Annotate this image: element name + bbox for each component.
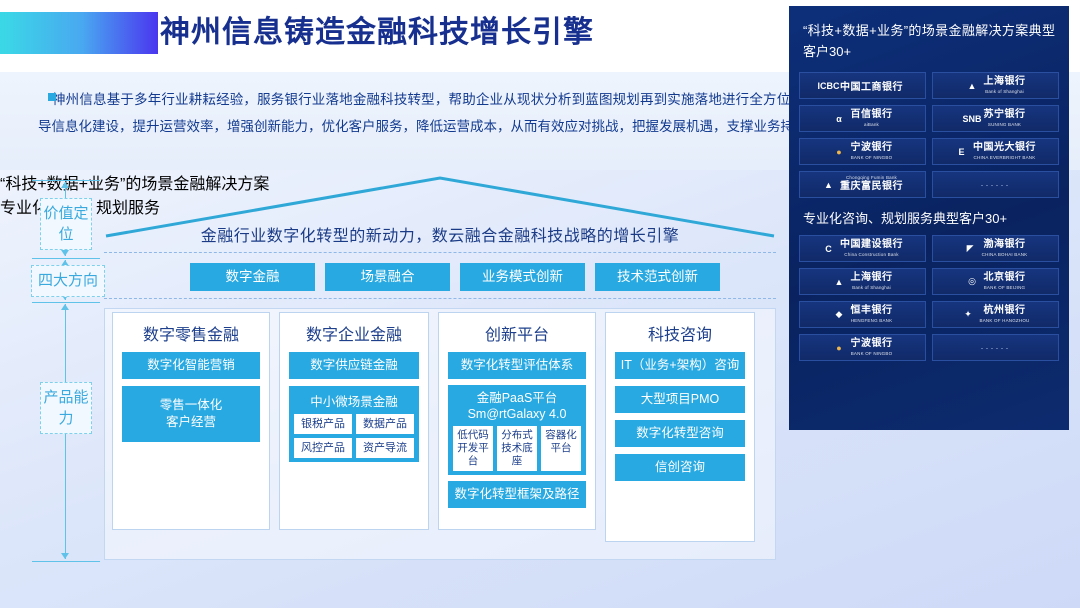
logo-label: 北京银行 bbox=[984, 272, 1026, 285]
page-title: 神州信息铸造金融科技增长引擎 bbox=[160, 12, 594, 54]
logo-label: 渤海银行 bbox=[984, 239, 1026, 252]
customer-logo-suning-bank[interactable]: SNB 苏宁银行 SUNING BANK bbox=[932, 105, 1059, 132]
bank-of-ningbo-icon: ● bbox=[833, 341, 846, 354]
paas-cell-row: 低代码开发平台 分布式技术底座 容器化平台 bbox=[453, 426, 581, 471]
capability-chip-framework[interactable]: 数字化转型框架及路径 bbox=[448, 481, 586, 508]
logo-label: 上海银行 bbox=[851, 272, 893, 285]
customer-logo-bohai-bank[interactable]: ◤ 渤海银行 CHINA BOHAI BANK bbox=[932, 235, 1059, 262]
everbright-bank-icon: E bbox=[955, 145, 968, 158]
logo-label: 苏宁银行 bbox=[984, 109, 1026, 122]
logo-label: 百信银行 bbox=[851, 109, 893, 122]
bank-of-beijing-icon: ◎ bbox=[966, 275, 979, 288]
customer-logo-chongqing-fumin-bank[interactable]: ▲ Chongqing Fumin Bank 重庆富民银行 bbox=[799, 171, 926, 198]
axis-divider bbox=[32, 302, 100, 303]
logo-label-en: Bank of Shanghai bbox=[985, 89, 1024, 95]
logo-label-en: CHINA EVERBRIGHT BANK bbox=[974, 155, 1036, 161]
arrow-down-icon bbox=[61, 553, 69, 559]
bank-of-hangzhou-icon: ✦ bbox=[962, 308, 975, 321]
customer-logo-bank-of-beijing[interactable]: ◎ 北京银行 BANK OF BEIJING bbox=[932, 268, 1059, 295]
capability-chip[interactable]: 大型项目PMO bbox=[615, 386, 745, 413]
customer-panel: “科技+数据+业务”的场景金融解决方案典型客户30+ ICBC 中国工商银行 ▲… bbox=[789, 6, 1069, 430]
capability-column-platform: 创新平台 数字化转型评估体系 金融PaaS平台 Sm@rtGalaxy 4.0 … bbox=[438, 312, 596, 530]
capability-chip[interactable]: 信创咨询 bbox=[615, 454, 745, 481]
suning-bank-icon: SNB bbox=[966, 112, 979, 125]
column-title: 创新平台 bbox=[448, 321, 586, 345]
sub-chip[interactable]: 数据产品 bbox=[356, 414, 414, 434]
direction-chip-row: 数字金融 场景融合 业务模式创新 技术范式创新 bbox=[190, 263, 720, 291]
capability-chip[interactable]: 数字化智能营销 bbox=[122, 352, 260, 379]
customer-logo-everbright-bank[interactable]: E 中国光大银行 CHINA EVERBRIGHT BANK bbox=[932, 138, 1059, 165]
paas-cell[interactable]: 分布式技术底座 bbox=[497, 426, 537, 471]
divider-dashed bbox=[104, 298, 776, 299]
customer-logo-grid-1: ICBC 中国工商银行 ▲ 上海银行 Bank of Shanghai α 百信… bbox=[789, 72, 1069, 198]
customer-logo-hengfeng-bank[interactable]: ◆ 恒丰银行 HENGFENG BANK bbox=[799, 301, 926, 328]
bullet-icon bbox=[48, 93, 56, 101]
logo-label-en: Chongqing Fumin Bank bbox=[846, 175, 897, 181]
customer-logo-bank-of-ningbo[interactable]: ● 宁波银行 BANK OF NINGBO bbox=[799, 138, 926, 165]
sub-chip[interactable]: 资产导流 bbox=[356, 438, 414, 458]
bank-of-ningbo-icon: ● bbox=[833, 145, 846, 158]
ellipsis-label: ······ bbox=[981, 180, 1011, 190]
direction-chip-2[interactable]: 场景融合 bbox=[325, 263, 450, 291]
logo-label-en: SUNING BANK bbox=[988, 122, 1021, 128]
bank-of-shanghai-icon: ▲ bbox=[966, 79, 979, 92]
capability-chip[interactable]: 零售一体化客户经营 bbox=[122, 386, 260, 442]
axis-divider bbox=[32, 561, 100, 562]
capability-chip[interactable]: IT（业务+架构）咨询 bbox=[615, 352, 745, 379]
logo-label-en: BANK OF HANGZHOU bbox=[980, 318, 1030, 324]
logo-label: 中国建设银行 bbox=[840, 239, 903, 252]
capability-columns: 数字零售金融 数字化智能营销 零售一体化客户经营 数字企业金融 数字供应链金融 … bbox=[112, 312, 768, 542]
logo-label: 宁波银行 bbox=[851, 142, 893, 155]
logo-label-en: CHINA BOHAI BANK bbox=[982, 252, 1028, 258]
capability-column-retail: 数字零售金融 数字化智能营销 零售一体化客户经营 bbox=[112, 312, 270, 530]
ccb-icon: C bbox=[822, 242, 835, 255]
logo-label: 恒丰银行 bbox=[851, 305, 893, 318]
bank-of-shanghai-icon: ▲ bbox=[833, 275, 846, 288]
customer-section-1-title: “科技+数据+业务”的场景金融解决方案典型客户30+ bbox=[789, 6, 1069, 72]
logo-label-en: Bank of Shanghai bbox=[852, 285, 891, 291]
capability-chip[interactable]: 数字化转型评估体系 bbox=[448, 352, 586, 379]
paas-cell[interactable]: 低代码开发平台 bbox=[453, 426, 493, 471]
direction-chip-1[interactable]: 数字金融 bbox=[190, 263, 315, 291]
customer-logo-bank-of-shanghai[interactable]: ▲ 上海银行 Bank of Shanghai bbox=[932, 72, 1059, 99]
customer-logo-icbc[interactable]: ICBC 中国工商银行 bbox=[799, 72, 926, 99]
axis-label-product-capability: 产品能力 bbox=[40, 382, 92, 434]
direction-chip-3[interactable]: 业务模式创新 bbox=[460, 263, 585, 291]
group-title: 中小微场景金融 bbox=[294, 391, 414, 410]
axis-label-four-directions: 四大方向 bbox=[31, 265, 105, 297]
axis-divider bbox=[32, 180, 100, 181]
capability-chip[interactable]: 数字供应链金融 bbox=[289, 352, 419, 379]
logo-label-en: aiBank bbox=[864, 122, 879, 128]
column-title: 数字零售金融 bbox=[122, 321, 260, 345]
chongqing-fumin-bank-icon: ▲ bbox=[822, 178, 835, 191]
logo-label: 上海银行 bbox=[984, 76, 1026, 89]
divider-dashed bbox=[104, 252, 776, 253]
bohai-bank-icon: ◤ bbox=[964, 242, 977, 255]
sub-chip[interactable]: 银税产品 bbox=[294, 414, 352, 434]
paas-cell[interactable]: 容器化平台 bbox=[541, 426, 581, 471]
customer-logo-grid-2: C 中国建设银行 China Construction Bank ◤ 渤海银行 … bbox=[789, 235, 1069, 361]
logo-label-en: BANK OF NINGBO bbox=[851, 351, 893, 357]
logo-label-en: BANK OF NINGBO bbox=[851, 155, 893, 161]
customer-logo-bank-of-shanghai-2[interactable]: ▲ 上海银行 Bank of Shanghai bbox=[799, 268, 926, 295]
axis-label-value-positioning: 价值定位 bbox=[40, 198, 92, 250]
customer-logo-aibank[interactable]: α 百信银行 aiBank bbox=[799, 105, 926, 132]
direction-chip-4[interactable]: 技术范式创新 bbox=[595, 263, 720, 291]
customer-section-2-title: 专业化咨询、规划服务典型客户30+ bbox=[789, 198, 1069, 235]
logo-label: 宁波银行 bbox=[851, 338, 893, 351]
logo-label-en: HENGFENG BANK bbox=[851, 318, 893, 324]
header-accent-bar bbox=[0, 12, 158, 54]
column-title: 科技咨询 bbox=[615, 321, 745, 345]
capability-chip[interactable]: 数字化转型咨询 bbox=[615, 420, 745, 447]
axis-divider bbox=[32, 258, 100, 259]
logo-label: 重庆富民银行 bbox=[840, 181, 903, 194]
paas-title-line2: Sm@rtGalaxy 4.0 bbox=[453, 406, 581, 422]
capability-column-consulting: 科技咨询 IT（业务+架构）咨询 大型项目PMO 数字化转型咨询 信创咨询 bbox=[605, 312, 755, 542]
sub-chip-grid: 银税产品 数据产品 风控产品 资产导流 bbox=[294, 414, 414, 458]
customer-logo-more: ······ bbox=[932, 171, 1059, 198]
logo-label: 中国光大银行 bbox=[973, 142, 1036, 155]
aibank-icon: α bbox=[833, 112, 846, 125]
arrow-up-icon bbox=[61, 182, 69, 188]
logo-label: 中国工商银行 bbox=[840, 78, 903, 93]
value-proposition-text: 金融行业数字化转型的新动力，数云融合金融科技战略的增长引擎 bbox=[104, 222, 776, 246]
column-title: 数字企业金融 bbox=[289, 321, 419, 345]
arrow-down-icon bbox=[61, 250, 69, 256]
capability-group-paas[interactable]: 金融PaaS平台 Sm@rtGalaxy 4.0 低代码开发平台 分布式技术底座… bbox=[448, 385, 586, 475]
axis-rail: 价值定位 四大方向 产品能力 bbox=[32, 180, 110, 562]
customer-logo-more-2: ······ bbox=[932, 334, 1059, 361]
customer-logo-bank-of-hangzhou[interactable]: ✦ 杭州银行 BANK OF HANGZHOU bbox=[932, 301, 1059, 328]
capability-column-enterprise: 数字企业金融 数字供应链金融 中小微场景金融 银税产品 数据产品 风控产品 资产… bbox=[279, 312, 429, 530]
hengfeng-bank-icon: ◆ bbox=[833, 308, 846, 321]
ellipsis-label: ······ bbox=[981, 343, 1011, 353]
customer-logo-ccb[interactable]: C 中国建设银行 China Construction Bank bbox=[799, 235, 926, 262]
logo-label-en: BANK OF BEIJING bbox=[984, 285, 1026, 291]
logo-label: 杭州银行 bbox=[984, 305, 1026, 318]
logo-label-en: China Construction Bank bbox=[844, 252, 898, 258]
icbc-icon: ICBC bbox=[822, 79, 835, 92]
customer-logo-bank-of-ningbo-2[interactable]: ● 宁波银行 BANK OF NINGBO bbox=[799, 334, 926, 361]
paas-title-line1: 金融PaaS平台 bbox=[453, 390, 581, 406]
sub-chip[interactable]: 风控产品 bbox=[294, 438, 352, 458]
capability-group-sme[interactable]: 中小微场景金融 银税产品 数据产品 风控产品 资产导流 bbox=[289, 386, 419, 462]
arrow-up-icon bbox=[61, 304, 69, 310]
